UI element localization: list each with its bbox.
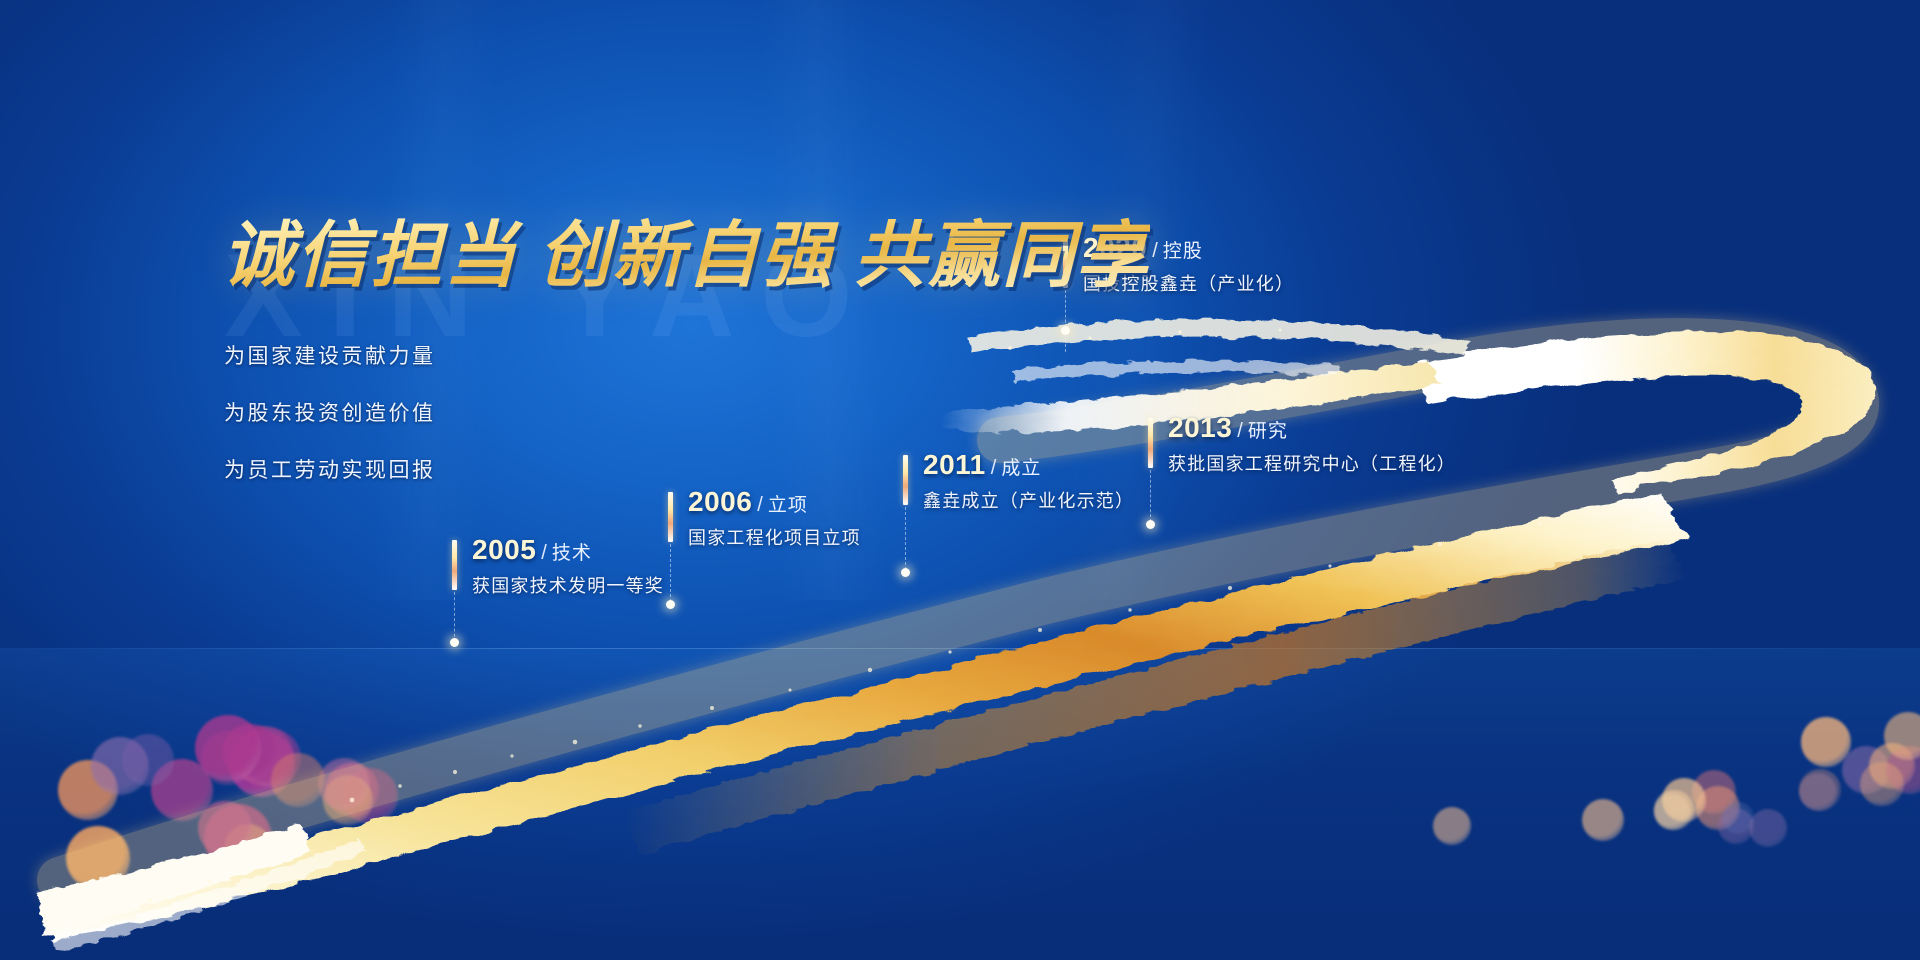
milestone-accent-bar (903, 455, 908, 505)
bokeh-circle (1749, 809, 1787, 847)
milestone-heading: 2005/技术 (472, 536, 664, 564)
milestone-year: 2006 (688, 486, 752, 517)
bokeh-circle (198, 801, 252, 855)
milestone-leader-line (1150, 470, 1151, 522)
milestone-category: 控股 (1163, 241, 1203, 262)
bokeh-circle (1433, 807, 1471, 845)
bokeh-circle (1582, 799, 1624, 841)
milestone-year: 2013 (1168, 412, 1232, 443)
hero-subline: 为员工劳动实现回报 (224, 460, 436, 481)
milestone-heading: 2011/成立 (923, 451, 1134, 479)
milestone-leader-line (454, 592, 455, 642)
milestone-separator: / (757, 494, 763, 516)
bokeh-circle (1722, 802, 1754, 834)
bokeh-circle (122, 734, 174, 786)
milestone-description: 获国家技术发明一等奖 (472, 577, 664, 595)
milestone-separator: / (541, 542, 547, 564)
milestone-dot[interactable] (1061, 326, 1070, 335)
milestone-description: 获批国家工程研究中心（工程化） (1168, 455, 1456, 473)
milestone-leader-line (905, 507, 906, 570)
page-title: 诚信担当 创新自强 共赢同享 (222, 196, 1150, 301)
milestone-category: 研究 (1248, 421, 1288, 442)
milestone-accent-bar (668, 492, 673, 542)
milestone-category: 技术 (552, 543, 592, 564)
milestone-year: 2011 (923, 449, 986, 480)
bokeh-circle (66, 826, 130, 890)
milestone-category: 成立 (1001, 458, 1041, 479)
milestone-accent-bar (452, 540, 457, 590)
hero-subline: 为股东投资创造价值 (224, 403, 436, 424)
milestone-accent-bar (1148, 418, 1153, 468)
milestone-description: 国家工程化项目立项 (688, 529, 861, 547)
milestone-text: 2013/研究获批国家工程研究中心（工程化） (1168, 414, 1456, 473)
milestone-separator: / (1237, 420, 1243, 442)
bokeh-circle (1860, 762, 1904, 806)
milestone-leader-line (670, 544, 671, 602)
milestone-separator: / (991, 457, 997, 479)
milestone-category: 立项 (768, 495, 808, 516)
milestone-text: 2011/成立鑫垚成立（产业化示范） (923, 451, 1134, 510)
bokeh-circle (1654, 794, 1690, 830)
milestone-text: 2006/立项国家工程化项目立项 (688, 488, 861, 547)
milestone-dot[interactable] (901, 568, 910, 577)
milestone-separator: / (1152, 240, 1158, 262)
milestone-text: 2005/技术获国家技术发明一等奖 (472, 536, 664, 595)
bokeh-circle (318, 758, 370, 810)
milestone-heading: 2006/立项 (688, 488, 861, 516)
hero-subline: 为国家建设贡献力量 (224, 346, 436, 367)
milestone-heading: 2013/研究 (1168, 414, 1456, 442)
background-horizon-line (0, 648, 1920, 649)
hero-subtitle-group: 为国家建设贡献力量 为股东投资创造价值 为员工劳动实现回报 (224, 346, 436, 517)
milestone-dot[interactable] (1146, 520, 1155, 529)
milestone-dot[interactable] (666, 600, 675, 609)
bokeh-circle (195, 715, 261, 781)
milestone-year: 2005 (472, 534, 536, 565)
milestone-dot[interactable] (450, 638, 459, 647)
poster-canvas: XIN YAO (0, 0, 1920, 960)
bokeh-circle (1799, 773, 1837, 811)
milestone-description: 鑫垚成立（产业化示范） (923, 492, 1134, 510)
bokeh-circle (271, 753, 325, 807)
